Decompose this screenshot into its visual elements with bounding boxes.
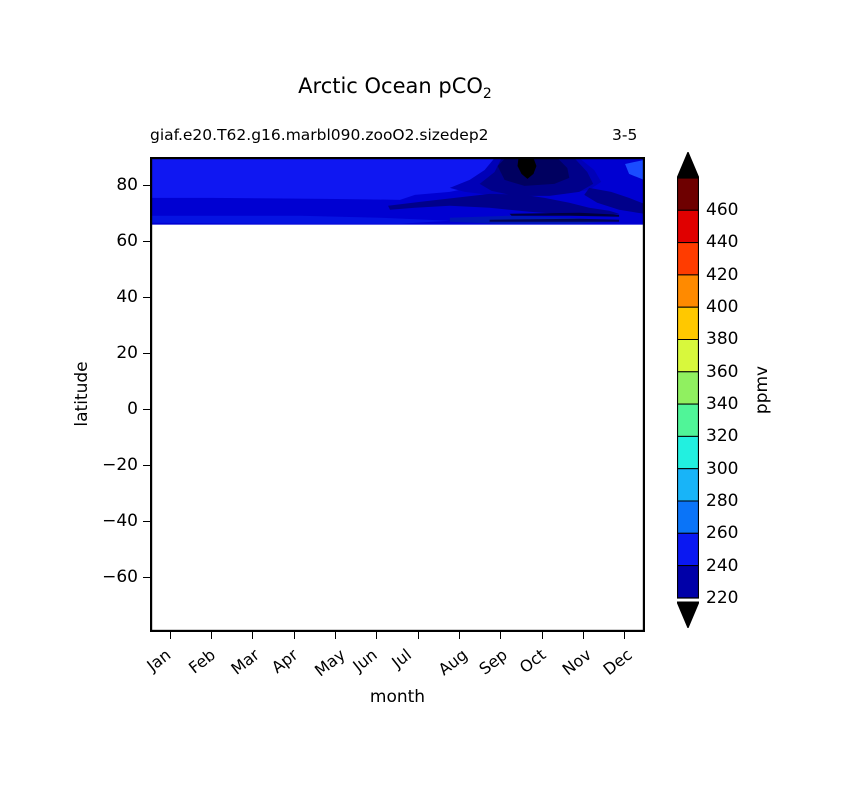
- panel-index-label: 3-5: [612, 126, 637, 144]
- x-tick-oct: [542, 632, 543, 639]
- y-tick-m20: [143, 465, 150, 466]
- y-tick-label-m40: −40: [92, 511, 138, 531]
- cbar-tick-label-320: 320: [706, 426, 738, 446]
- cbar-tick-label-400: 400: [706, 297, 738, 317]
- y-tick-20: [143, 353, 150, 354]
- cbar-tick-label-420: 420: [706, 265, 738, 285]
- x-tick-label-jan: Jan: [143, 645, 174, 675]
- x-tick-dec: [624, 632, 625, 639]
- x-tick-nov: [583, 632, 584, 639]
- y-tick-m40: [143, 521, 150, 522]
- colorbar-axis-label: ppmv: [752, 366, 772, 414]
- colorbar-svg: [677, 152, 699, 628]
- x-tick-jul: [418, 632, 419, 639]
- cbar-tick-label-460: 460: [706, 200, 738, 220]
- cbar-tick-label-240: 240: [706, 556, 738, 576]
- x-tick-label-oct: Oct: [516, 645, 550, 677]
- cbar-tick-label-380: 380: [706, 329, 738, 349]
- y-tick-label-m60: −60: [92, 567, 138, 587]
- x-tick-label-may: May: [311, 645, 349, 680]
- y-tick-label-20: 20: [92, 343, 138, 363]
- x-tick-label-feb: Feb: [185, 645, 219, 677]
- x-tick-sep: [500, 632, 501, 639]
- cbar-tick-label-280: 280: [706, 491, 738, 511]
- y-axis-tick-labels: 80 60 40 20 0 −20 −40 −60: [84, 0, 138, 788]
- cbar-tick-label-360: 360: [706, 362, 738, 382]
- y-axis-label: latitude: [72, 361, 92, 426]
- y-tick-60: [143, 241, 150, 242]
- x-tick-label-jun: Jun: [349, 645, 380, 675]
- x-tick-label-mar: Mar: [227, 645, 262, 679]
- figure-title-subscript: 2: [483, 86, 492, 102]
- y-tick-m60: [143, 577, 150, 578]
- x-axis-label: month: [150, 687, 645, 707]
- y-tick-label-m20: −20: [92, 455, 138, 475]
- cbar-tick-label-260: 260: [706, 523, 738, 543]
- x-tick-aug: [459, 632, 460, 639]
- y-tick-80: [143, 185, 150, 186]
- cbar-tick-label-340: 340: [706, 394, 738, 414]
- plot-axes: [150, 157, 645, 632]
- x-tick-may: [335, 632, 336, 639]
- x-tick-label-sep: Sep: [475, 645, 510, 679]
- x-tick-jun: [376, 632, 377, 639]
- contour-plot-canvas: [151, 158, 644, 631]
- x-tick-label-apr: Apr: [268, 645, 302, 677]
- cbar-tick-label-220: 220: [706, 588, 738, 608]
- x-tick-jan: [170, 632, 171, 639]
- x-tick-apr: [294, 632, 295, 639]
- figure-title-text: Arctic Ocean pCO: [298, 74, 483, 98]
- y-tick-label-40: 40: [92, 287, 138, 307]
- x-tick-mar: [252, 632, 253, 639]
- y-tick-40: [143, 297, 150, 298]
- cbar-tick-label-440: 440: [706, 232, 738, 252]
- case-name-subtitle: giaf.e20.T62.g16.marbl090.zooO2.sizedep2: [150, 126, 489, 144]
- colorbar: [677, 152, 699, 628]
- y-tick-label-0: 0: [92, 399, 138, 419]
- x-tick-label-dec: Dec: [600, 645, 636, 679]
- y-tick-label-80: 80: [92, 175, 138, 195]
- y-tick-0: [143, 409, 150, 410]
- x-tick-feb: [211, 632, 212, 639]
- x-tick-label-jul: Jul: [388, 645, 415, 672]
- x-tick-label-nov: Nov: [559, 645, 595, 679]
- y-tick-label-60: 60: [92, 231, 138, 251]
- cbar-tick-label-300: 300: [706, 459, 738, 479]
- x-tick-label-aug: Aug: [435, 645, 471, 679]
